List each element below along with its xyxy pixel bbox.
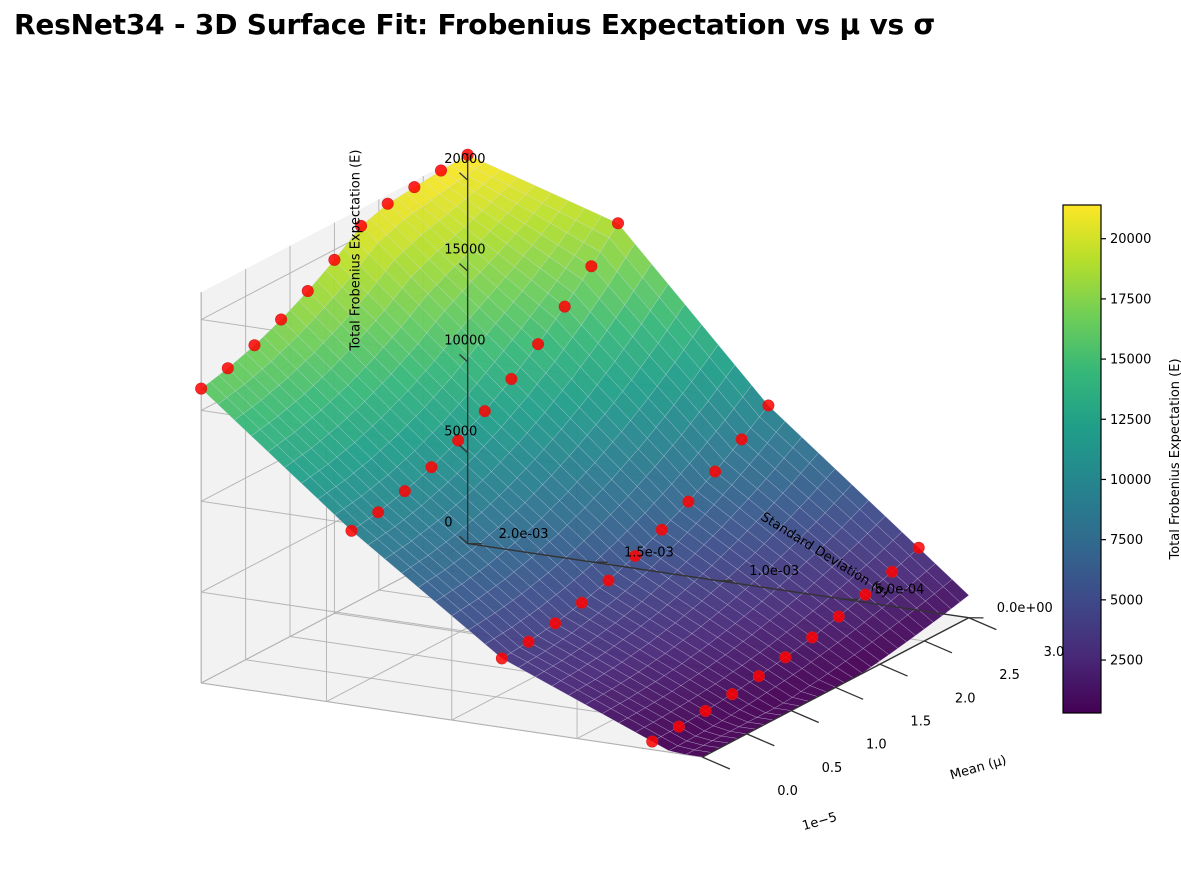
scatter-point (302, 285, 313, 296)
scatter-point (222, 363, 233, 374)
scatter-point (329, 254, 340, 265)
scatter-point (833, 611, 844, 622)
scatter-point (612, 218, 623, 229)
scatter-point (806, 632, 817, 643)
colorbar-tick-label: 10000 (1110, 473, 1151, 488)
colorbar-tick-label: 17500 (1110, 292, 1151, 307)
tick-label-z: 15000 (444, 243, 485, 258)
tick-label-y: 0.0e+00 (997, 601, 1053, 616)
scatter-point (736, 434, 747, 445)
tick-label-x: 3.0 (1044, 645, 1065, 660)
scatter-point (726, 688, 737, 699)
tick-mark-x (924, 641, 952, 653)
scatter-point (426, 461, 437, 472)
scatter-point (780, 652, 791, 663)
colorbar-tick-label: 2500 (1110, 654, 1143, 669)
x-axis-label: Mean (μ) (948, 753, 1008, 783)
scatter-point (523, 636, 534, 647)
tick-label-y: 1.0e-03 (749, 564, 799, 579)
scatter-point (399, 485, 410, 496)
tick-label-x: 0.5 (822, 761, 843, 776)
scatter-point (656, 524, 667, 535)
tick-label-z: 10000 (444, 334, 485, 349)
tick-label-x: 0.0 (777, 784, 798, 799)
scatter-point (673, 721, 684, 732)
tick-label-x: 1.0 (866, 738, 887, 753)
colorbar-tick-label: 5000 (1110, 593, 1143, 608)
tick-mark-x (969, 618, 997, 630)
scatter-point (586, 261, 597, 272)
tick-label-x: 2.5 (999, 668, 1020, 683)
page-title: ResNet34 - 3D Surface Fit: Frobenius Exp… (14, 8, 935, 41)
tick-mark-x (702, 757, 730, 769)
x-axis-offset-text: 1e−5 (801, 810, 839, 834)
surface-plot-svg: 0.00.51.01.52.02.53.00.0e+005.0e-041.0e-… (0, 0, 1181, 889)
tick-label-y: 2.0e-03 (499, 527, 549, 542)
scatter-point (249, 340, 260, 351)
scatter-point (372, 507, 383, 518)
scatter-point (576, 597, 587, 608)
scatter-point (700, 705, 711, 716)
scatter-point (506, 373, 517, 384)
colorbar-gradient (1063, 205, 1101, 713)
tick-mark-x (880, 664, 908, 676)
colorbar-label: Total Frobenius Expectation (E) (1168, 358, 1181, 560)
scatter-point (382, 198, 393, 209)
tick-label-z: 20000 (444, 152, 485, 167)
scatter-point (532, 338, 543, 349)
scatter-point (275, 314, 286, 325)
scatter-point (683, 496, 694, 507)
scatter-point (479, 405, 490, 416)
scatter-point (559, 301, 570, 312)
scatter-point (409, 181, 420, 192)
scatter-point (709, 466, 720, 477)
tick-label-x: 2.0 (955, 691, 976, 706)
colorbar-tick-label: 12500 (1110, 413, 1151, 428)
colorbar: 2500500075001000012500150001750020000Tot… (1063, 205, 1181, 713)
scatter-point (603, 575, 614, 586)
tick-mark-x (747, 734, 775, 746)
colorbar-tick-label: 20000 (1110, 232, 1151, 247)
scatter-point (763, 400, 774, 411)
tick-label-y: 1.5e-03 (624, 545, 674, 560)
tick-label-x: 1.5 (910, 715, 931, 730)
scatter-point (549, 618, 560, 629)
scatter-point (913, 542, 924, 553)
colorbar-tick-label: 15000 (1110, 353, 1151, 368)
z-axis-label: Total Frobenius Expectation (E) (349, 150, 364, 352)
scatter-point (753, 670, 764, 681)
colorbar-tick-label: 7500 (1110, 533, 1143, 548)
scatter-point (496, 653, 507, 664)
scatter-point (195, 383, 206, 394)
scatter-point (647, 736, 658, 747)
tick-mark-x (791, 711, 819, 723)
scatter-point (886, 566, 897, 577)
tick-label-z: 5000 (444, 424, 477, 439)
tick-mark-x (836, 687, 864, 699)
figure-canvas: ResNet34 - 3D Surface Fit: Frobenius Exp… (0, 0, 1181, 889)
scatter-point (346, 525, 357, 536)
tick-label-z: 0 (444, 515, 452, 530)
